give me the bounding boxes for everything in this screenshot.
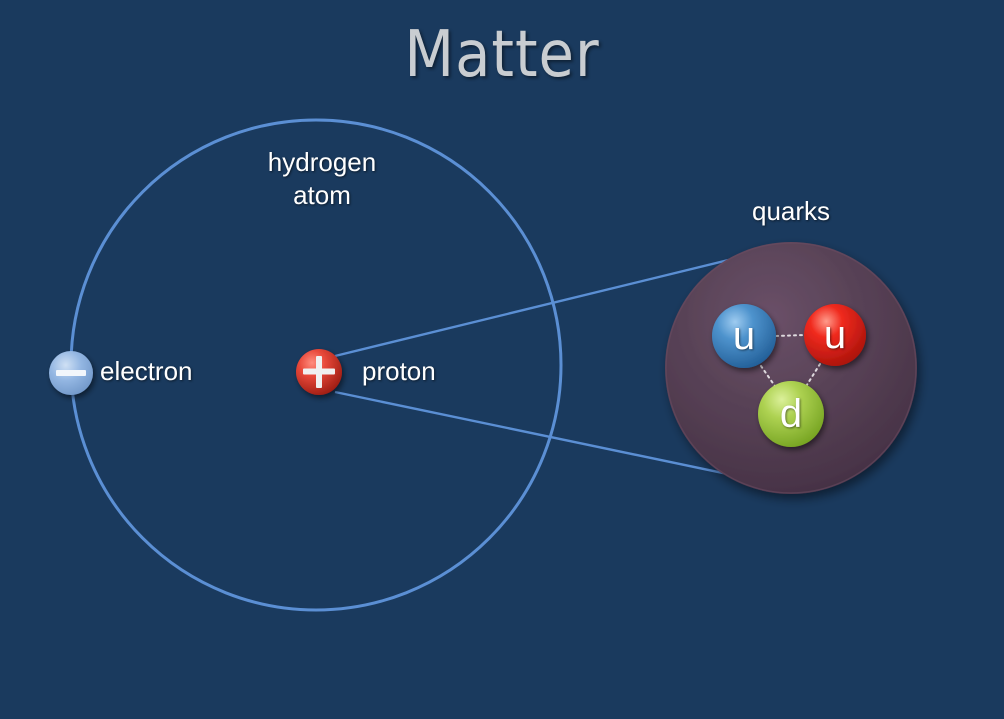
hydrogen-atom-label-line1: hydrogen bbox=[268, 147, 376, 177]
hydrogen-atom-label: hydrogenatom bbox=[231, 146, 413, 211]
quarks-label: quarks bbox=[752, 195, 830, 228]
proton-plus-sign-vertical bbox=[316, 356, 322, 388]
up-quark-blue-symbol: u bbox=[714, 314, 774, 359]
down-quark-green-symbol: d bbox=[761, 392, 821, 437]
up-quark-red-symbol: u bbox=[805, 313, 865, 358]
proton-label: proton bbox=[362, 355, 436, 388]
electron-label: electron bbox=[100, 355, 193, 388]
matter-diagram-canvas: Matter bbox=[0, 0, 1004, 719]
hydrogen-atom-label-line2: atom bbox=[293, 180, 351, 210]
electron-minus-sign bbox=[56, 370, 86, 376]
